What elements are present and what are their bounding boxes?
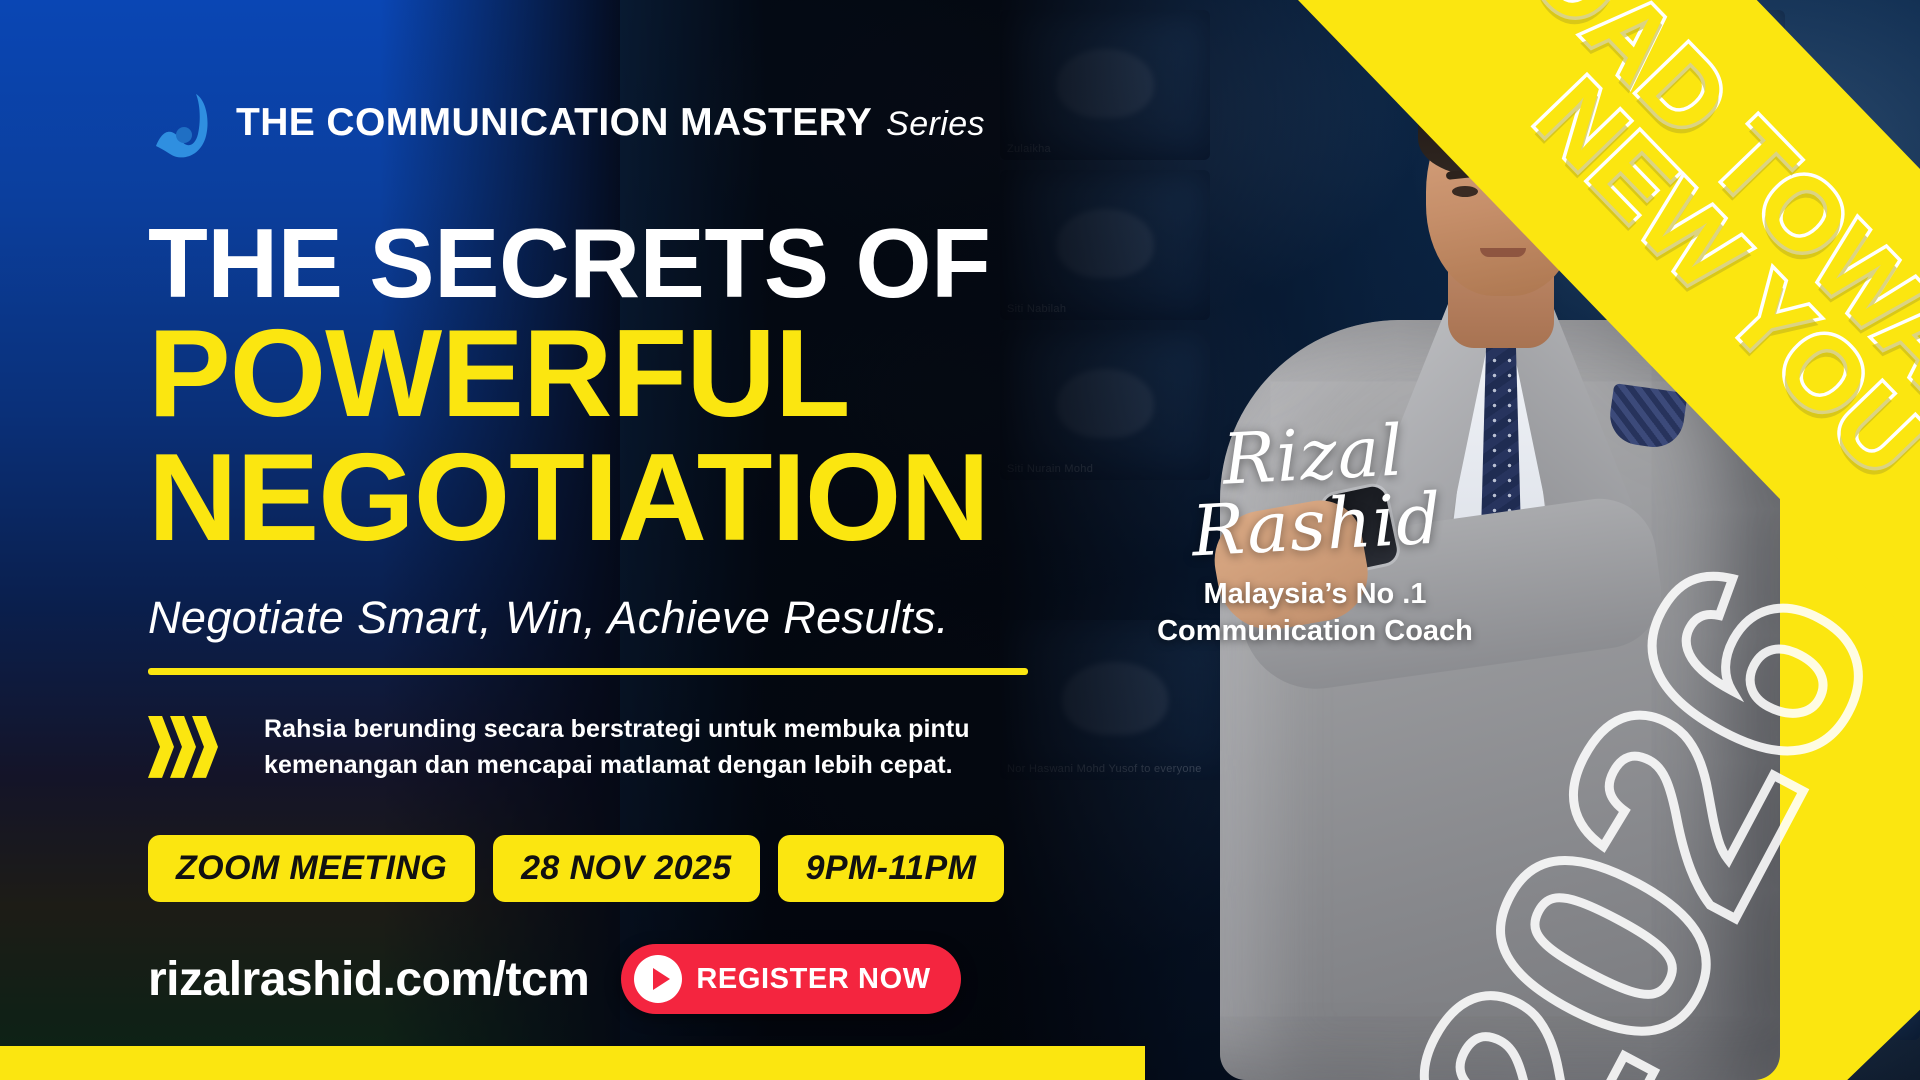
- detail-platform: ZOOM MEETING: [148, 835, 475, 902]
- cta-row: rizalrashid.com/tcm REGISTER NOW: [148, 944, 1208, 1014]
- content-column: THE COMMUNICATION MASTERY Series THE SEC…: [148, 0, 1208, 1080]
- register-now-button[interactable]: REGISTER NOW: [621, 944, 960, 1014]
- event-details: ZOOM MEETING 28 NOV 2025 9PM-11PM: [148, 835, 1208, 902]
- registration-url[interactable]: rizalrashid.com/tcm: [148, 952, 589, 1007]
- headline-line-3: NEGOTIATION: [148, 440, 1208, 558]
- bottom-yellow-strip: [0, 1046, 1145, 1080]
- description-text: Rahsia berunding secara berstrategi untu…: [264, 711, 984, 784]
- headline-line-1: THE SECRETS OF: [148, 216, 1208, 310]
- mouth-shape: [1480, 248, 1526, 257]
- brand-series-text: Series: [886, 105, 985, 144]
- brand-title-text: THE COMMUNICATION MASTERY: [236, 101, 872, 145]
- promotional-poster: Zulaikha Siti Nabilah Siti Nurain Mohd s…: [0, 0, 1920, 1080]
- chevrons-icon: [148, 716, 214, 778]
- chevron-right-icon: [148, 716, 174, 778]
- eye-left-shape: [1452, 186, 1478, 197]
- headline-line-2: POWERFUL: [148, 316, 1208, 434]
- register-now-label: REGISTER NOW: [696, 963, 930, 996]
- brand-row: THE COMMUNICATION MASTERY Series: [148, 0, 1208, 160]
- wave-logo-icon: [148, 86, 214, 160]
- divider-rule: [148, 668, 1028, 675]
- detail-time: 9PM-11PM: [778, 835, 1005, 902]
- brand-title: THE COMMUNICATION MASTERY Series: [236, 101, 985, 145]
- description-row: Rahsia berunding secara berstrategi untu…: [148, 711, 1208, 784]
- chevron-right-circle-icon: [634, 955, 682, 1003]
- tagline: Negotiate Smart, Win, Achieve Results.: [148, 592, 1208, 644]
- detail-date: 28 NOV 2025: [493, 835, 759, 902]
